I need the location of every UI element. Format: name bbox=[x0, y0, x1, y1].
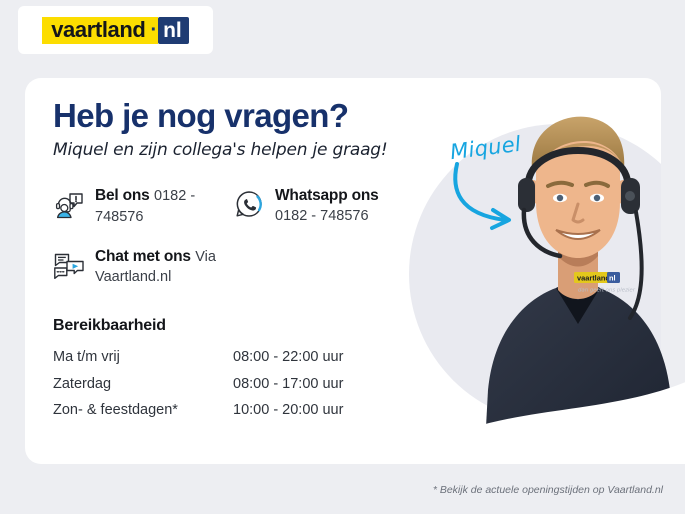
footnote-text: * Bekijk de actuele openingstijden op Va… bbox=[433, 484, 663, 496]
svg-text:vaartland: vaartland bbox=[577, 273, 610, 282]
table-row: Zaterdag 08:00 - 17:00 uur bbox=[53, 371, 343, 397]
availability-day: Zaterdag bbox=[53, 371, 233, 397]
logo-tld-badge: nl bbox=[158, 17, 189, 44]
availability-title: Bereikbaarheid bbox=[53, 317, 453, 335]
svg-text:dan geeft ons plezier: dan geeft ons plezier bbox=[578, 288, 636, 294]
contact-methods-grid: Bel ons 0182 - 748576 Whatsapp ons 0182 … bbox=[53, 186, 453, 287]
logo-mark: vaartland · nl bbox=[42, 17, 189, 44]
contact-method-whatsapp-text: Whatsapp ons 0182 - 748576 bbox=[275, 186, 413, 226]
contact-call-title: Bel ons bbox=[95, 187, 150, 204]
availability-hours: 08:00 - 22:00 uur bbox=[233, 344, 343, 370]
page-subtitle: Miquel en zijn collega's helpen je graag… bbox=[53, 140, 453, 160]
contact-method-call-text: Bel ons 0182 - 748576 bbox=[95, 186, 233, 227]
contact-chat-title: Chat met ons bbox=[95, 248, 191, 265]
contact-method-chat-text: Chat met ons Via Vaartland.nl bbox=[95, 247, 233, 288]
availability-day: Zon- & feestdagen* bbox=[53, 397, 233, 423]
contact-method-whatsapp[interactable]: Whatsapp ons 0182 - 748576 bbox=[233, 186, 413, 227]
employee-photo: vaartland nl dan geeft ons plezier bbox=[470, 60, 685, 464]
card-content: Heb je nog vragen? Miquel en zijn colleg… bbox=[53, 98, 453, 424]
availability-table: Ma t/m vrij 08:00 - 22:00 uur Zaterdag 0… bbox=[53, 344, 343, 423]
headset-person-icon bbox=[53, 188, 85, 220]
logo-separator-dot: · bbox=[150, 17, 158, 44]
availability-day: Ma t/m vrij bbox=[53, 344, 233, 370]
contact-whatsapp-value: 0182 - 748576 bbox=[275, 208, 369, 224]
availability-section: Bereikbaarheid Ma t/m vrij 08:00 - 22:00… bbox=[53, 317, 453, 423]
logo-wordmark: vaartland bbox=[42, 17, 150, 44]
contact-whatsapp-title: Whatsapp ons bbox=[275, 187, 379, 204]
availability-hours: 08:00 - 17:00 uur bbox=[233, 371, 343, 397]
availability-hours: 10:00 - 20:00 uur bbox=[233, 397, 343, 423]
table-row: Ma t/m vrij 08:00 - 22:00 uur bbox=[53, 344, 343, 370]
whatsapp-icon bbox=[233, 188, 265, 220]
contact-method-call[interactable]: Bel ons 0182 - 748576 bbox=[53, 186, 233, 227]
annotation-arrow-icon bbox=[443, 158, 553, 238]
contact-method-chat[interactable]: Chat met ons Via Vaartland.nl bbox=[53, 247, 233, 288]
table-row: Zon- & feestdagen* 10:00 - 20:00 uur bbox=[53, 397, 343, 423]
page-title: Heb je nog vragen? bbox=[53, 98, 453, 134]
site-logo[interactable]: vaartland · nl bbox=[18, 6, 213, 54]
chat-bubbles-icon bbox=[53, 249, 85, 281]
svg-text:nl: nl bbox=[609, 274, 616, 283]
